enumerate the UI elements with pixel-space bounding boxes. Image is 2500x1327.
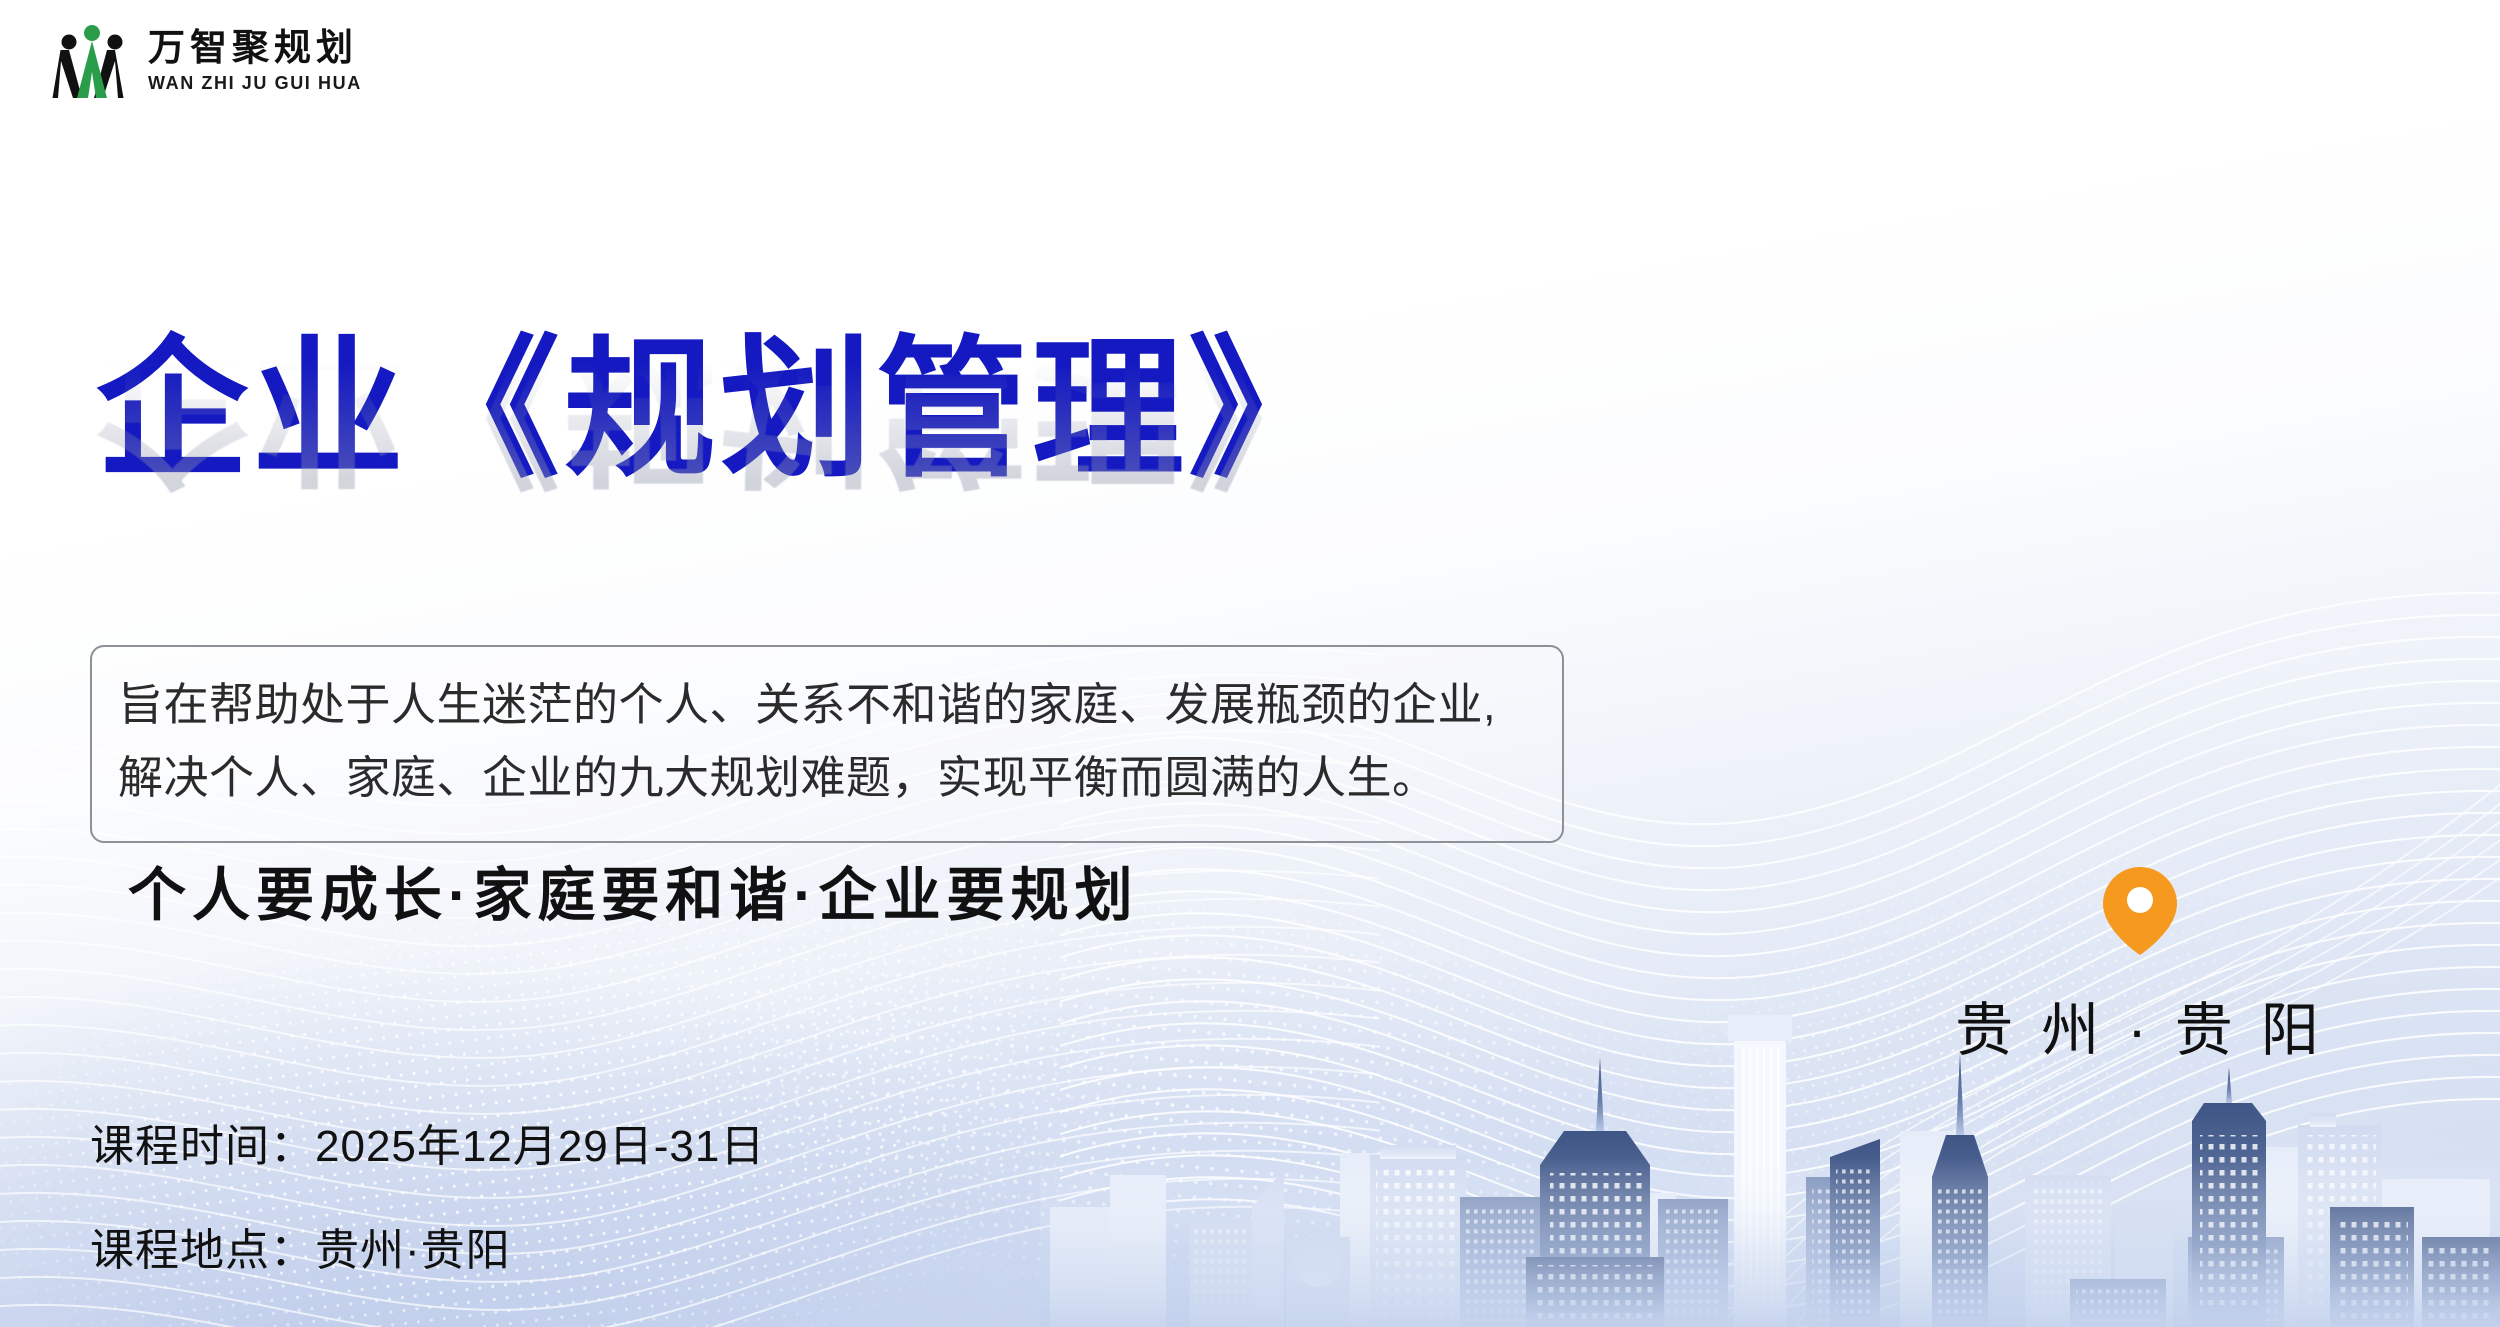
page-title-reflection: 企业《规划管理》	[96, 332, 1344, 493]
description-box: 旨在帮助处于人生迷茫的个人、关系不和谐的家庭、发展瓶颈的企业, 解决个人、家庭、…	[90, 645, 1564, 843]
brand-logo: 万智聚规划 WAN ZHI JU GUI HUA	[52, 20, 362, 102]
poster-canvas: 万智聚规划 WAN ZHI JU GUI HUA 企业《规划管理》 企业《规划管…	[0, 0, 2500, 1327]
three-people-logo-icon	[52, 20, 132, 102]
brand-name-cn: 万智聚规划	[148, 30, 362, 67]
location-text: 贵 州 · 贵 阳	[1955, 983, 2325, 1067]
map-pin-icon	[2101, 865, 2179, 957]
course-place: 课程地点：贵州·贵阳	[90, 1214, 765, 1278]
location-block: 贵 州 · 贵 阳	[1930, 865, 2350, 1067]
brand-name-en: WAN ZHI JU GUI HUA	[148, 74, 362, 92]
description-line-2: 解决个人、家庭、企业的九大规划难题，实现平衡而圆满的人生。	[118, 742, 1536, 815]
description-line-1: 旨在帮助处于人生迷茫的个人、关系不和谐的家庭、发展瓶颈的企业,	[118, 669, 1536, 742]
hero-title-block: 企业《规划管理》 企业《规划管理》	[96, 330, 1344, 654]
hero-slogan: 个人要成长·家庭要和谐·企业要规划	[128, 848, 1139, 932]
brand-logo-text: 万智聚规划 WAN ZHI JU GUI HUA	[148, 30, 362, 92]
course-info-block: 课程时间：2025年12月29日-31日 课程地点：贵州·贵阳	[90, 1110, 765, 1278]
course-time: 课程时间：2025年12月29日-31日	[90, 1110, 765, 1174]
